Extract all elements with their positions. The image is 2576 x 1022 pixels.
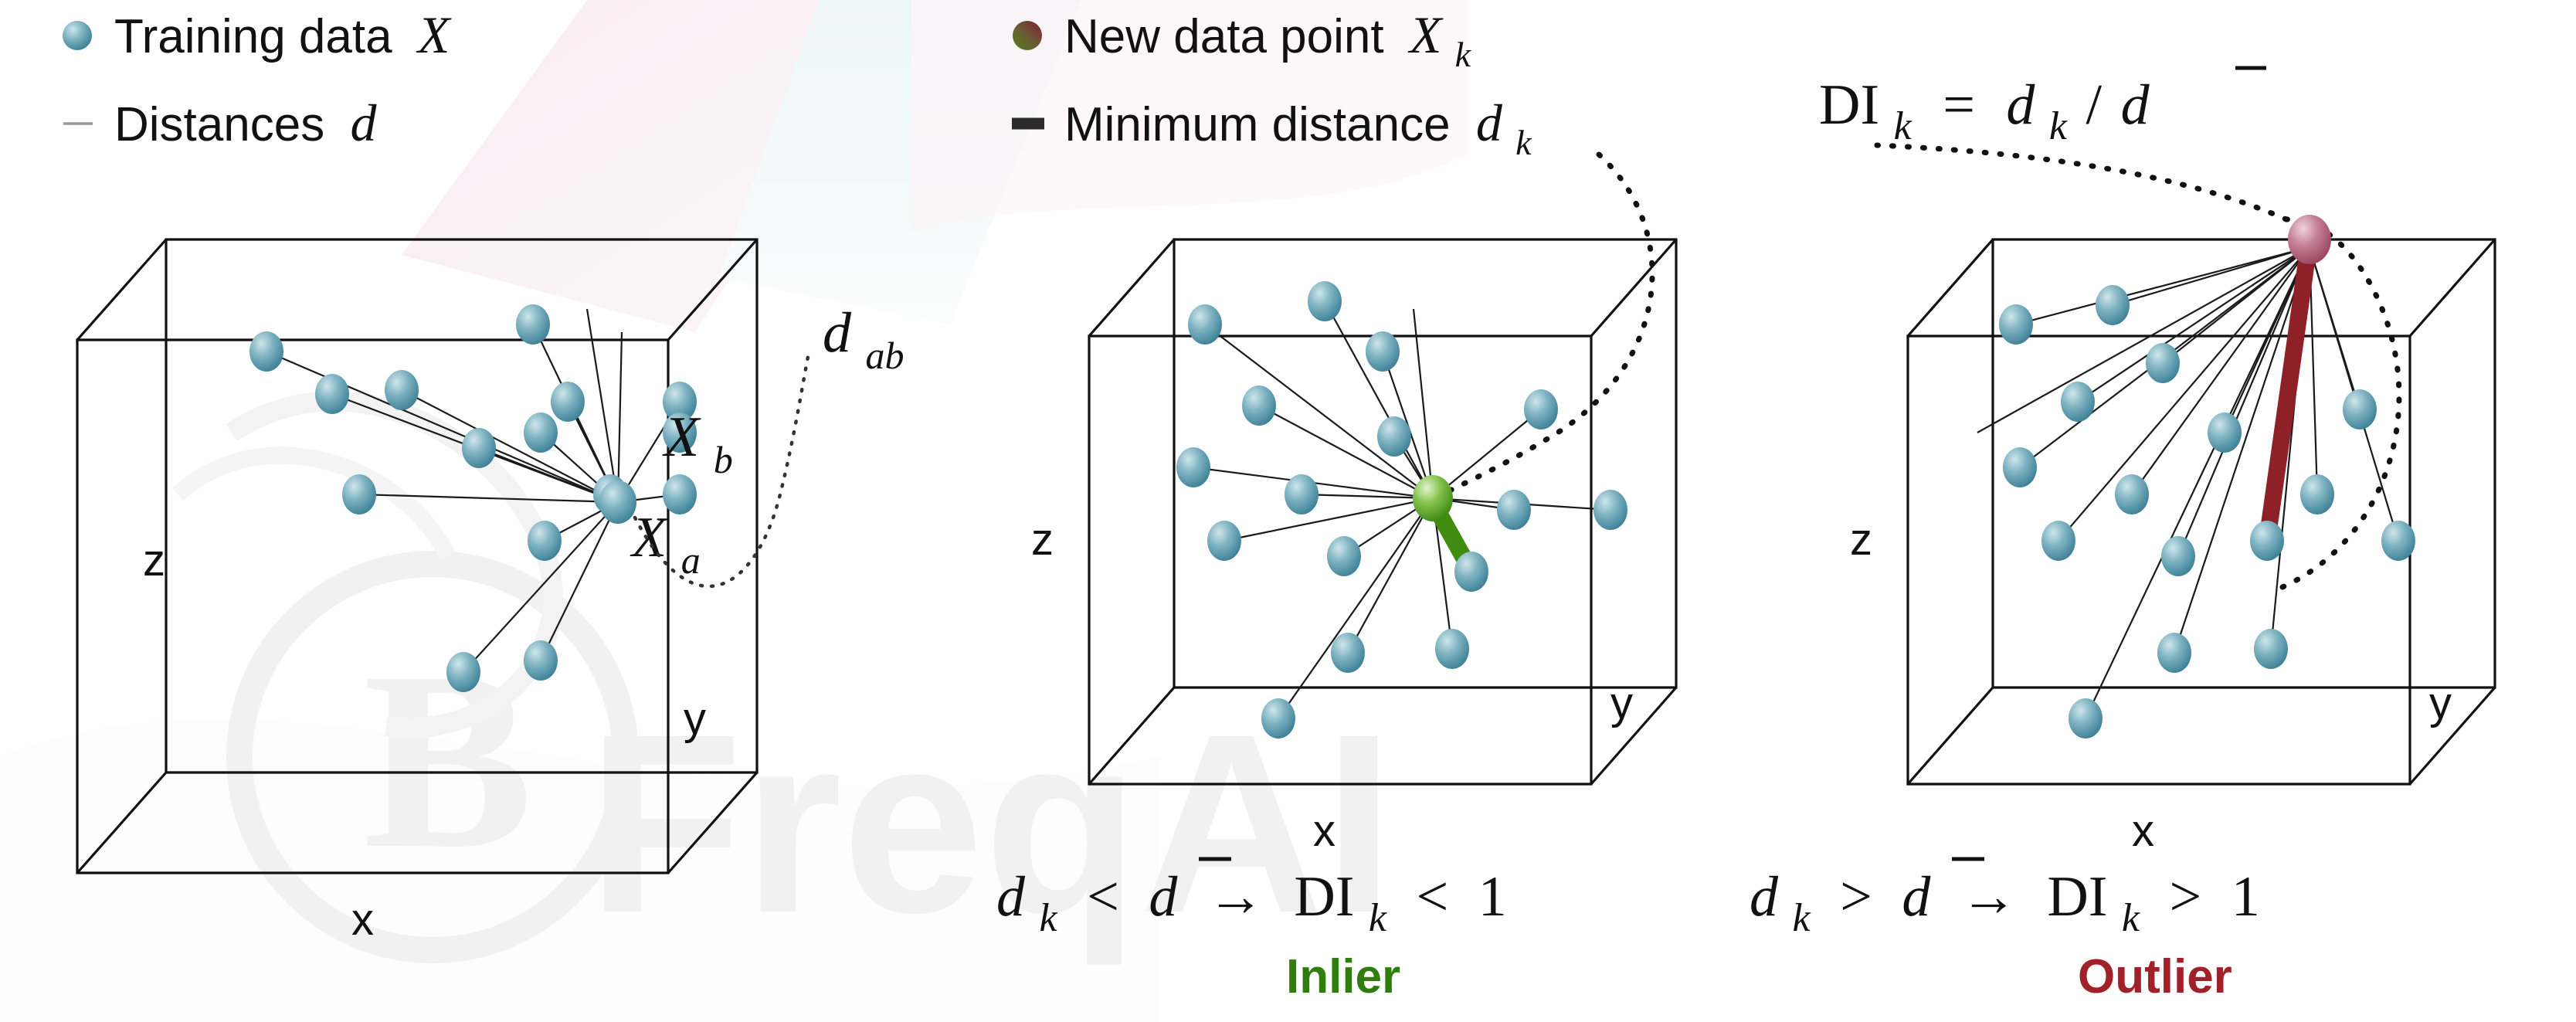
panel-outlier: z y x d k > d → DI k > 1 Outlier xyxy=(1750,215,2495,1003)
training-point-xa xyxy=(599,480,636,524)
caption-inlier-c-sub: k xyxy=(1369,896,1387,940)
diagram-root: FreqAI B xyxy=(0,0,2576,1022)
training-point xyxy=(1308,281,1342,321)
label-dab: d ab xyxy=(823,301,904,377)
training-point xyxy=(2041,521,2075,561)
training-point xyxy=(524,413,558,453)
training-point xyxy=(2250,521,2284,561)
caption-outlier-b: d xyxy=(1902,865,1931,929)
caption-outlier-val: 1 xyxy=(2232,865,2260,929)
training-point xyxy=(528,521,562,561)
axis-label-x-panel1: x xyxy=(351,895,374,945)
label-xa-symbol: X xyxy=(630,506,669,569)
legend-label-distances: Distances xyxy=(114,98,324,151)
legend-symbol-distances: d xyxy=(350,93,377,152)
label-xb: X b xyxy=(662,406,733,481)
diagram-layer: Training data X Distances d New data poi… xyxy=(0,0,2576,1022)
label-dab-sub: ab xyxy=(866,334,904,377)
teal-sphere-icon xyxy=(63,21,92,50)
legend-label-new-data-point: New data point xyxy=(1064,10,1384,63)
caption-inlier-arrow: → xyxy=(1207,865,1264,929)
legend-item-training-data: Training data X xyxy=(63,5,452,64)
training-point xyxy=(551,382,585,422)
label-dab-symbol: d xyxy=(823,301,852,365)
legend-item-minimum-distance: Minimum distance d k xyxy=(1012,93,1532,162)
training-point xyxy=(315,374,349,414)
caption-inlier: d k < d → DI k < 1 xyxy=(996,865,1507,944)
axis-label-z-panel1: z xyxy=(143,535,165,586)
new-data-point-inlier xyxy=(1413,475,1453,521)
legend-symbol-new-data-point: X xyxy=(1407,5,1444,64)
axis-label-y-panel2: y xyxy=(1610,678,1633,728)
legend-label-minimum-distance: Minimum distance xyxy=(1064,98,1451,151)
svg-text:Minimum distance d: Minimum distance d k xyxy=(1064,93,1532,162)
panel-training: X a X b d ab z y x xyxy=(77,239,904,945)
panel-inlier: z y x d k < d → DI k < 1 Inlier xyxy=(996,239,1676,1003)
training-point xyxy=(2161,536,2195,576)
green-red-sphere-icon xyxy=(1013,21,1042,50)
training-point xyxy=(2343,389,2377,430)
axis-label-z-panel2: z xyxy=(1031,514,1054,565)
training-point xyxy=(1435,629,1469,669)
training-point xyxy=(462,428,496,468)
training-point xyxy=(2069,698,2103,738)
legend-item-distances: Distances d xyxy=(63,93,377,152)
caption-inlier-b: d xyxy=(1149,865,1178,929)
caption-inlier-val: 1 xyxy=(1478,865,1507,929)
caption-inlier-a: d xyxy=(996,865,1026,929)
di-formula-slash: / xyxy=(2086,73,2103,137)
legend: Training data X Distances d New data poi… xyxy=(63,5,1532,162)
training-point xyxy=(1242,385,1276,426)
di-formula: DI k = d k / d xyxy=(1819,68,2266,152)
legend-label-training-data: Training data xyxy=(114,10,392,63)
training-point xyxy=(1524,389,1558,430)
training-point xyxy=(1366,331,1400,372)
training-points-panel3 xyxy=(1999,215,2415,738)
verdict-outlier: Outlier xyxy=(2078,950,2232,1003)
caption-outlier-c: DI xyxy=(2047,865,2107,929)
training-point xyxy=(1176,447,1210,487)
svg-text:Training data X: Training data X xyxy=(114,5,452,64)
label-xa-sub: a xyxy=(681,538,701,582)
caption-inlier-rel2: < xyxy=(1417,865,1449,929)
training-point xyxy=(342,474,376,514)
training-point xyxy=(1593,490,1627,530)
training-point xyxy=(524,640,558,681)
caption-inlier-a-sub: k xyxy=(1040,896,1058,940)
legend-symbol-minimum-distance: d xyxy=(1476,93,1503,152)
axis-label-z-panel3: z xyxy=(1850,514,1872,565)
axis-label-y-panel1: y xyxy=(684,694,706,744)
label-xa: X a xyxy=(630,506,701,582)
training-point xyxy=(1497,490,1531,530)
caption-outlier-rel2: > xyxy=(2170,865,2202,929)
training-point xyxy=(1261,698,1295,738)
training-point xyxy=(1331,633,1365,673)
legend-symbol-new-data-point-sub: k xyxy=(1455,35,1472,74)
verdict-inlier: Inlier xyxy=(1286,950,1400,1003)
cube-outlier xyxy=(1908,239,2495,784)
legend-symbol-training-data: X xyxy=(416,5,452,64)
di-formula-eq: = xyxy=(1943,73,1975,137)
training-point xyxy=(446,652,480,692)
di-formula-lhs-sub: k xyxy=(1894,104,1912,148)
training-point xyxy=(1285,474,1319,514)
leader-dk-to-inlier xyxy=(1438,154,1652,497)
training-point xyxy=(2096,285,2130,325)
di-formula-lhs: DI xyxy=(1819,73,1879,137)
svg-text:New data point X: New data point X k xyxy=(1064,5,1472,74)
new-data-point-outlier xyxy=(2288,215,2331,264)
training-point xyxy=(1999,304,2033,345)
training-point xyxy=(2146,343,2180,383)
cube-inlier xyxy=(1089,239,1676,784)
training-point xyxy=(1188,304,1222,345)
training-point xyxy=(1377,416,1411,457)
caption-inlier-rel: < xyxy=(1087,865,1119,929)
caption-outlier-a: d xyxy=(1750,865,1779,929)
training-point xyxy=(1454,552,1488,592)
training-point xyxy=(2115,474,2149,514)
legend-symbol-minimum-distance-sub: k xyxy=(1515,123,1532,162)
training-point xyxy=(1327,536,1361,576)
caption-outlier-arrow: → xyxy=(1960,865,2018,929)
training-point xyxy=(2208,413,2242,453)
training-point xyxy=(2157,633,2191,673)
training-point xyxy=(385,370,419,410)
di-formula-den: d xyxy=(2121,73,2150,137)
axis-label-x-panel2: x xyxy=(1313,806,1336,856)
axis-label-y-panel3: y xyxy=(2429,678,2452,728)
leader-di-formula-tail xyxy=(1877,145,2286,219)
svg-text:DI k =: DI k = d k / d xyxy=(1819,73,2150,152)
training-point xyxy=(249,331,283,372)
svg-text:Distances d: Distances d xyxy=(114,93,377,152)
di-formula-num-sub: k xyxy=(2049,104,2068,148)
distance-lines-inlier xyxy=(1193,301,1610,718)
training-point xyxy=(2300,474,2334,514)
training-points-panel2 xyxy=(1176,281,1627,738)
training-point xyxy=(516,304,550,345)
caption-outlier-c-sub: k xyxy=(2122,896,2140,940)
label-xb-symbol: X xyxy=(662,406,701,469)
training-point xyxy=(2381,521,2415,561)
legend-item-new-data-point: New data point X k xyxy=(1013,5,1472,74)
training-point xyxy=(2003,447,2037,487)
caption-outlier: d k > d → DI k > 1 xyxy=(1750,865,2260,944)
label-xb-sub: b xyxy=(714,438,733,481)
di-formula-num: d xyxy=(2006,73,2035,137)
caption-outlier-rel: > xyxy=(1840,865,1872,929)
axis-label-x-panel3: x xyxy=(2132,806,2154,856)
training-point xyxy=(2061,382,2095,422)
caption-inlier-c: DI xyxy=(1294,865,1354,929)
training-point xyxy=(2254,629,2288,669)
caption-outlier-a-sub: k xyxy=(1793,896,1811,940)
training-point xyxy=(1207,521,1241,561)
